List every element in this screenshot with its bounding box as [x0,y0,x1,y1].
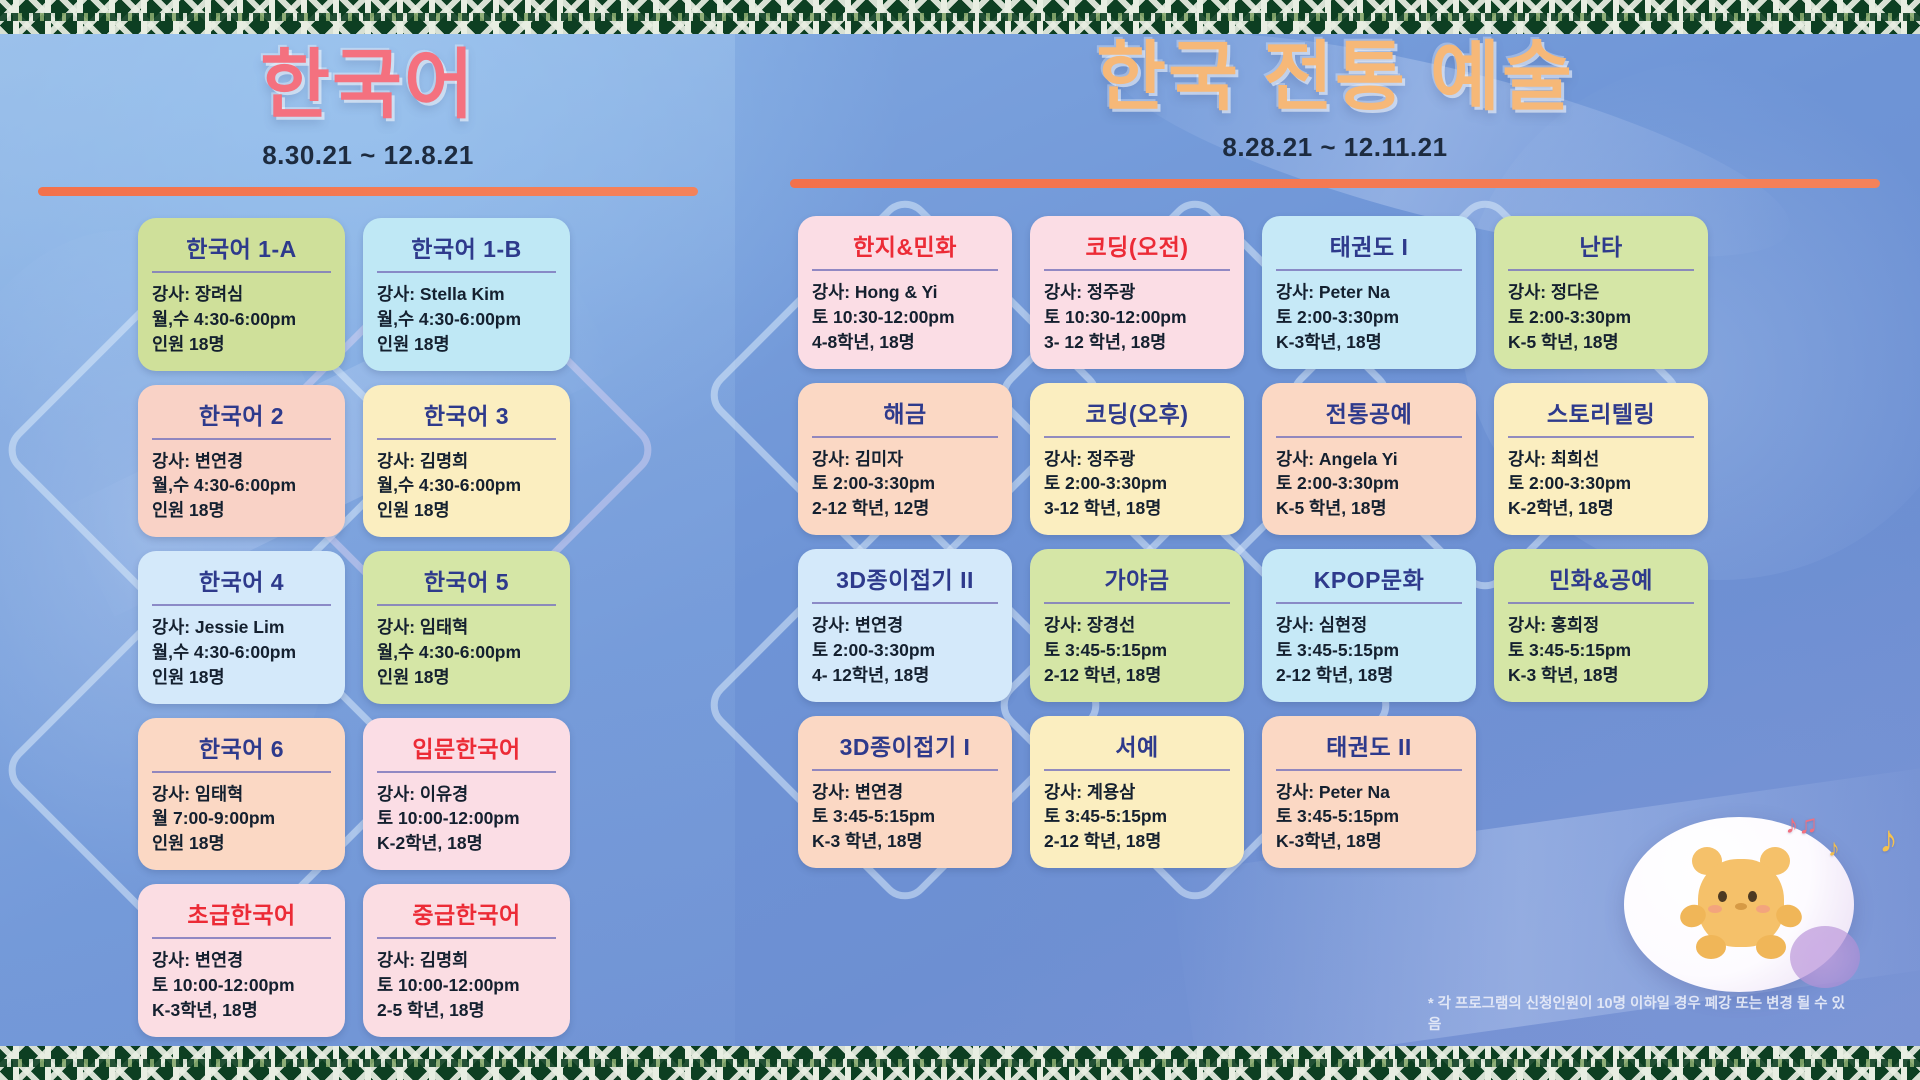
course-card-separator [1276,602,1462,604]
section-divider-rule [38,187,698,196]
course-detail-line: 강사: Hong & Yi [812,280,998,305]
course-card-details: 강사: Stella Kim월,수 4:30-6:00pm인원 18명 [377,282,556,357]
course-card-title: 한국어 1-B [377,230,556,271]
course-detail-line: 강사: 계용삼 [1044,780,1230,805]
course-card-details: 강사: 계용삼토 3:45-5:15pm2-12 학년, 18명 [1044,780,1230,855]
course-card: 중급한국어강사: 김명희토 10:00-12:00pm2-5 학년, 18명 [363,884,570,1037]
course-card-details: 강사: Peter Na토 3:45-5:15pmK-3학년, 18명 [1276,780,1462,855]
course-detail-line: 토 3:45-5:15pm [1044,804,1230,829]
course-card-title: 한국어 3 [377,397,556,438]
course-card-title: 태권도 I [1276,228,1462,269]
course-card-title: 태권도 II [1276,728,1462,769]
course-detail-line: 강사: 정주광 [1044,280,1230,305]
decorative-border-top [0,0,1920,34]
section-header: 한국어 8.30.21 ~ 12.8.21 [38,48,698,196]
course-card-title: 스토리텔링 [1508,395,1694,436]
course-card: 한국어 1-A강사: 장려심월,수 4:30-6:00pm인원 18명 [138,218,345,371]
course-detail-line: K-3 학년, 18명 [1508,663,1694,688]
section-dates: 8.28.21 ~ 12.11.21 [790,132,1880,163]
music-note-icon: ♪♫ [1786,809,1819,840]
course-card-details: 강사: 변연경토 10:00-12:00pmK-3학년, 18명 [152,948,331,1023]
course-card-details: 강사: 정주광토 2:00-3:30pm3-12 학년, 18명 [1044,447,1230,522]
course-card-details: 강사: 홍희정토 3:45-5:15pmK-3 학년, 18명 [1508,613,1694,688]
course-card-title: 가야금 [1044,561,1230,602]
course-detail-line: 강사: 변연경 [152,948,331,973]
course-card-title: 한국어 6 [152,730,331,771]
course-card-details: 강사: 임태혁월 7:00-9:00pm인원 18명 [152,782,331,857]
course-card: 한지&민화강사: Hong & Yi토 10:30-12:00pm4-8학년, … [798,216,1012,369]
course-detail-line: 인원 18명 [377,332,556,357]
course-card-title: 한지&민화 [812,228,998,269]
course-card: 코딩(오전)강사: 정주광토 10:30-12:00pm3- 12 학년, 18… [1030,216,1244,369]
course-card: 전통공예강사: Angela Yi토 2:00-3:30pmK-5 학년, 18… [1262,383,1476,536]
course-card-title: 서예 [1044,728,1230,769]
course-detail-line: 토 3:45-5:15pm [1276,804,1462,829]
course-card: 입문한국어강사: 이유경토 10:00-12:00pmK-2학년, 18명 [363,718,570,871]
course-detail-line: 토 2:00-3:30pm [812,638,998,663]
course-card-title: 한국어 2 [152,397,331,438]
bear-leg-left [1696,935,1726,959]
course-card-details: 강사: Jessie Lim월,수 4:30-6:00pm인원 18명 [152,615,331,690]
course-detail-line: 2-5 학년, 18명 [377,998,556,1023]
course-detail-line: 3-12 학년, 18명 [1044,496,1230,521]
bear-cheek-left [1708,905,1722,913]
bear-nose [1735,903,1747,910]
course-card-separator [812,602,998,604]
decorative-border-bottom [0,1046,1920,1080]
course-detail-line: 2-12 학년, 12명 [812,496,998,521]
course-card-details: 강사: 정주광토 10:30-12:00pm3- 12 학년, 18명 [1044,280,1230,355]
course-detail-line: 월,수 4:30-6:00pm [152,307,331,332]
course-detail-line: 2-12 학년, 18명 [1044,829,1230,854]
course-detail-line: 인원 18명 [152,332,331,357]
course-card: 민화&공예강사: 홍희정토 3:45-5:15pmK-3 학년, 18명 [1494,549,1708,702]
course-detail-line: 2-12 학년, 18명 [1044,663,1230,688]
course-detail-line: 강사: 김명희 [377,948,556,973]
course-card-separator [377,771,556,773]
course-detail-line: 토 2:00-3:30pm [1508,471,1694,496]
course-card: 한국어 4강사: Jessie Lim월,수 4:30-6:00pm인원 18명 [138,551,345,704]
course-detail-line: 토 10:30-12:00pm [1044,305,1230,330]
music-note-icon: ♪ [1828,835,1840,863]
course-card-details: 강사: 김명희토 10:00-12:00pm2-5 학년, 18명 [377,948,556,1023]
course-detail-line: K-3학년, 18명 [152,998,331,1023]
course-card-details: 강사: Angela Yi토 2:00-3:30pmK-5 학년, 18명 [1276,447,1462,522]
course-detail-line: K-3학년, 18명 [1276,330,1462,355]
course-card-details: 강사: 임태혁월,수 4:30-6:00pm인원 18명 [377,615,556,690]
bear-mascot: ♪♫ ♪ ♪ [1624,817,1854,992]
course-card-separator [1276,769,1462,771]
course-detail-line: 월,수 4:30-6:00pm [152,473,331,498]
poster-root: 한국어 8.30.21 ~ 12.8.21 한국어 1-A강사: 장려심월,수 … [0,0,1920,1080]
section-header: 한국 전통 예술 8.28.21 ~ 12.11.21 [790,40,1880,188]
course-card-title: 해금 [812,395,998,436]
course-card: 난타강사: 정다은토 2:00-3:30pmK-5 학년, 18명 [1494,216,1708,369]
bear-figure [1686,843,1796,961]
course-detail-line: 월,수 4:30-6:00pm [377,640,556,665]
course-card-title: 민화&공예 [1508,561,1694,602]
section-traditional-arts: 한국 전통 예술 8.28.21 ~ 12.11.21 한지&민화강사: Hon… [790,40,1880,868]
course-card-separator [1044,269,1230,271]
course-detail-line: 강사: Peter Na [1276,780,1462,805]
course-card-details: 강사: 정다은토 2:00-3:30pmK-5 학년, 18명 [1508,280,1694,355]
course-card-grid-arts: 한지&민화강사: Hong & Yi토 10:30-12:00pm4-8학년, … [798,216,1880,868]
course-detail-line: 인원 18명 [377,498,556,523]
course-card-title: 한국어 5 [377,563,556,604]
course-detail-line: 인원 18명 [152,665,331,690]
course-card: 가야금강사: 장경선토 3:45-5:15pm2-12 학년, 18명 [1030,549,1244,702]
course-detail-line: 토 3:45-5:15pm [812,804,998,829]
course-card: 태권도 II강사: Peter Na토 3:45-5:15pmK-3학년, 18… [1262,716,1476,869]
course-detail-line: 월,수 4:30-6:00pm [152,640,331,665]
course-detail-line: 강사: Jessie Lim [152,615,331,640]
course-detail-line: 토 2:00-3:30pm [1044,471,1230,496]
course-card-separator [152,771,331,773]
course-card: 한국어 5강사: 임태혁월,수 4:30-6:00pm인원 18명 [363,551,570,704]
course-detail-line: 4- 12학년, 18명 [812,663,998,688]
course-detail-line: 3- 12 학년, 18명 [1044,330,1230,355]
course-card-separator [1044,769,1230,771]
course-detail-line: 토 3:45-5:15pm [1508,638,1694,663]
course-card-separator [1044,602,1230,604]
section-title: 한국어 [38,48,698,124]
course-detail-line: 토 2:00-3:30pm [1276,305,1462,330]
course-card: 코딩(오후)강사: 정주광토 2:00-3:30pm3-12 학년, 18명 [1030,383,1244,536]
course-card-details: 강사: 장경선토 3:45-5:15pm2-12 학년, 18명 [1044,613,1230,688]
section-title: 한국 전통 예술 [790,40,1880,116]
course-card-separator [812,269,998,271]
section-divider-rule [790,179,1880,188]
course-card-title: 3D종이접기 I [812,728,998,769]
course-detail-line: 토 10:00-12:00pm [152,973,331,998]
course-detail-line: 토 3:45-5:15pm [1044,638,1230,663]
course-card-separator [1508,602,1694,604]
course-detail-line: 강사: 정다은 [1508,280,1694,305]
course-detail-line: 인원 18명 [377,665,556,690]
course-card-separator [1508,269,1694,271]
course-card: 한국어 3강사: 김명희월,수 4:30-6:00pm인원 18명 [363,385,570,538]
course-card-title: 전통공예 [1276,395,1462,436]
course-detail-line: 강사: 이유경 [377,782,556,807]
footnote-disclaimer: * 각 프로그램의 신청인원이 10명 이하일 경우 폐강 또는 변경 될 수 … [1428,994,1858,1036]
bear-eye-left [1718,891,1727,902]
course-detail-line: 강사: 장경선 [1044,613,1230,638]
course-card: 3D종이접기 I강사: 변연경토 3:45-5:15pmK-3 학년, 18명 [798,716,1012,869]
course-card-separator [812,769,998,771]
course-card-separator [377,604,556,606]
course-detail-line: K-3 학년, 18명 [812,829,998,854]
course-card: 3D종이접기 II강사: 변연경토 2:00-3:30pm4- 12학년, 18… [798,549,1012,702]
course-card: 서예강사: 계용삼토 3:45-5:15pm2-12 학년, 18명 [1030,716,1244,869]
course-detail-line: 강사: Angela Yi [1276,447,1462,472]
course-detail-line: K-3학년, 18명 [1276,829,1462,854]
course-card: 한국어 2강사: 변연경월,수 4:30-6:00pm인원 18명 [138,385,345,538]
course-card-title: 초급한국어 [152,896,331,937]
course-detail-line: K-5 학년, 18명 [1508,330,1694,355]
course-card-separator [152,604,331,606]
course-detail-line: 강사: 변연경 [812,780,998,805]
course-card-details: 강사: Peter Na토 2:00-3:30pmK-3학년, 18명 [1276,280,1462,355]
course-card-grid-korean: 한국어 1-A강사: 장려심월,수 4:30-6:00pm인원 18명한국어 1… [138,218,698,1037]
course-card-details: 강사: 최희선토 2:00-3:30pmK-2학년, 18명 [1508,447,1694,522]
course-detail-line: 인원 18명 [152,831,331,856]
course-card: 한국어 1-B강사: Stella Kim월,수 4:30-6:00pm인원 1… [363,218,570,371]
course-card-title: 코딩(오후) [1044,395,1230,436]
course-card-separator [812,436,998,438]
course-detail-line: 토 10:00-12:00pm [377,973,556,998]
course-detail-line: 월 7:00-9:00pm [152,806,331,831]
course-card-separator [377,271,556,273]
course-detail-line: 강사: Stella Kim [377,282,556,307]
course-card-separator [152,937,331,939]
course-card-separator [152,438,331,440]
course-card-separator [1508,436,1694,438]
course-card-title: KPOP문화 [1276,561,1462,602]
course-card-separator [152,271,331,273]
course-card-details: 강사: 이유경토 10:00-12:00pmK-2학년, 18명 [377,782,556,857]
course-card-title: 난타 [1508,228,1694,269]
course-detail-line: 4-8학년, 18명 [812,330,998,355]
course-card: KPOP문화강사: 심현정토 3:45-5:15pm2-12 학년, 18명 [1262,549,1476,702]
course-detail-line: 인원 18명 [152,498,331,523]
course-card-separator [1044,436,1230,438]
course-card: 태권도 I강사: Peter Na토 2:00-3:30pmK-3학년, 18명 [1262,216,1476,369]
course-card: 해금강사: 김미자토 2:00-3:30pm2-12 학년, 12명 [798,383,1012,536]
course-card-details: 강사: 김미자토 2:00-3:30pm2-12 학년, 12명 [812,447,998,522]
course-card-title: 한국어 1-A [152,230,331,271]
course-detail-line: 토 3:45-5:15pm [1276,638,1462,663]
course-card-title: 중급한국어 [377,896,556,937]
course-detail-line: 토 10:00-12:00pm [377,806,556,831]
course-card-separator [1276,269,1462,271]
course-card-title: 3D종이접기 II [812,561,998,602]
course-detail-line: 토 2:00-3:30pm [1508,305,1694,330]
course-detail-line: 강사: 김미자 [812,447,998,472]
course-card-details: 강사: 변연경토 2:00-3:30pm4- 12학년, 18명 [812,613,998,688]
course-detail-line: 강사: 홍희정 [1508,613,1694,638]
course-detail-line: 2-12 학년, 18명 [1276,663,1462,688]
course-detail-line: 강사: 장려심 [152,282,331,307]
course-detail-line: 토 2:00-3:30pm [1276,471,1462,496]
course-detail-line: K-5 학년, 18명 [1276,496,1462,521]
course-card-separator [377,937,556,939]
course-detail-line: 강사: 임태혁 [152,782,331,807]
course-card-details: 강사: 김명희월,수 4:30-6:00pm인원 18명 [377,449,556,524]
course-detail-line: 강사: 임태혁 [377,615,556,640]
course-card-separator [1276,436,1462,438]
course-card: 스토리텔링강사: 최희선토 2:00-3:30pmK-2학년, 18명 [1494,383,1708,536]
course-detail-line: 월,수 4:30-6:00pm [377,307,556,332]
bear-cheek-right [1756,905,1770,913]
course-detail-line: 토 10:30-12:00pm [812,305,998,330]
section-dates: 8.30.21 ~ 12.8.21 [38,140,698,171]
music-note-icon: ♪ [1879,819,1898,862]
course-card-title: 입문한국어 [377,730,556,771]
course-detail-line: 월,수 4:30-6:00pm [377,473,556,498]
course-detail-line: 강사: 변연경 [812,613,998,638]
course-card-details: 강사: 변연경토 3:45-5:15pmK-3 학년, 18명 [812,780,998,855]
course-card: 초급한국어강사: 변연경토 10:00-12:00pmK-3학년, 18명 [138,884,345,1037]
course-card-details: 강사: 심현정토 3:45-5:15pm2-12 학년, 18명 [1276,613,1462,688]
course-detail-line: K-2학년, 18명 [1508,496,1694,521]
course-card-details: 강사: Hong & Yi토 10:30-12:00pm4-8학년, 18명 [812,280,998,355]
course-detail-line: 강사: Peter Na [1276,280,1462,305]
course-card: 한국어 6강사: 임태혁월 7:00-9:00pm인원 18명 [138,718,345,871]
course-detail-line: 강사: 김명희 [377,449,556,474]
course-detail-line: 강사: 정주광 [1044,447,1230,472]
course-card-title: 코딩(오전) [1044,228,1230,269]
course-detail-line: 토 2:00-3:30pm [812,471,998,496]
course-detail-line: 강사: 심현정 [1276,613,1462,638]
course-card-details: 강사: 변연경월,수 4:30-6:00pm인원 18명 [152,449,331,524]
course-card-title: 한국어 4 [152,563,331,604]
bear-leg-right [1756,935,1786,959]
course-card-separator [377,438,556,440]
bear-eye-right [1748,891,1757,902]
section-korean-language: 한국어 8.30.21 ~ 12.8.21 한국어 1-A강사: 장려심월,수 … [38,48,698,1037]
course-card-details: 강사: 장려심월,수 4:30-6:00pm인원 18명 [152,282,331,357]
course-detail-line: 강사: 최희선 [1508,447,1694,472]
course-detail-line: 강사: 변연경 [152,449,331,474]
course-detail-line: K-2학년, 18명 [377,831,556,856]
